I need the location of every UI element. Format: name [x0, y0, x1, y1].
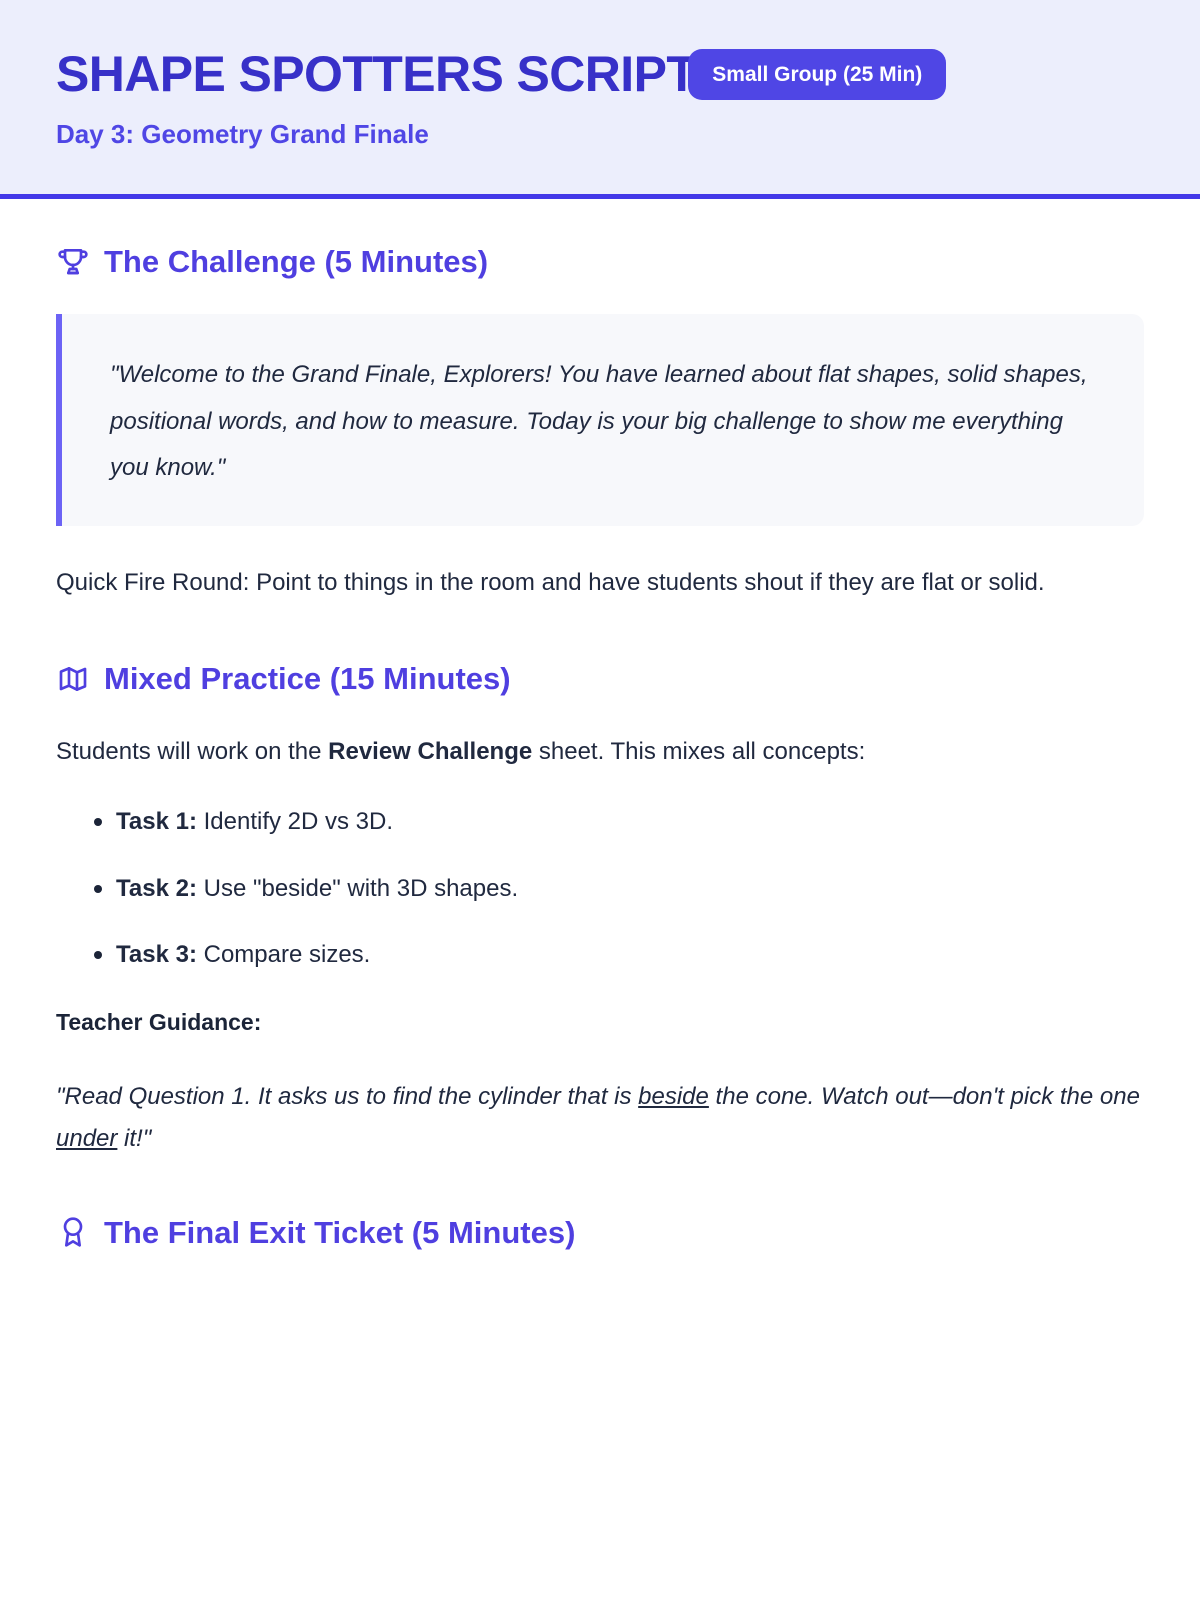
- challenge-quote-callout: "Welcome to the Grand Finale, Explorers!…: [56, 314, 1144, 526]
- intro-prefix: Students will work on the: [56, 738, 328, 765]
- task-label: Task 2:: [116, 875, 197, 902]
- teacher-guidance-label: Teacher Guidance:: [56, 1009, 1144, 1036]
- intro-suffix: sheet. This mixes all concepts:: [532, 738, 865, 765]
- task-label: Task 3:: [116, 941, 197, 968]
- group-duration-badge: Small Group (25 Min): [688, 49, 946, 100]
- list-item: Task 1: Identify 2D vs 3D.: [94, 803, 1144, 841]
- guidance-part-3: it!": [117, 1125, 151, 1152]
- map-icon: [56, 662, 90, 696]
- mixed-practice-intro: Students will work on the Review Challen…: [56, 731, 1144, 773]
- section-heading-challenge: The Challenge (5 Minutes): [56, 243, 1144, 280]
- document-body: The Challenge (5 Minutes) "Welcome to th…: [0, 199, 1200, 1251]
- list-item: Task 3: Compare sizes.: [94, 936, 1144, 974]
- teacher-guidance-quote: "Read Question 1. It asks us to find the…: [56, 1076, 1144, 1160]
- trophy-icon: [56, 244, 90, 278]
- guidance-part-2: the cone. Watch out—don't pick the one: [709, 1083, 1140, 1110]
- page-subtitle: Day 3: Geometry Grand Finale: [56, 119, 1144, 150]
- section-heading-exit-ticket: The Final Exit Ticket (5 Minutes): [56, 1214, 1144, 1251]
- document-header: SHAPE SPOTTERS SCRIPT Small Group (25 Mi…: [0, 0, 1200, 199]
- task-list: Task 1: Identify 2D vs 3D. Task 2: Use "…: [56, 803, 1144, 974]
- guidance-underline-under: under: [56, 1125, 117, 1152]
- section-heading-label: The Final Exit Ticket (5 Minutes): [104, 1214, 575, 1251]
- guidance-part-1: "Read Question 1. It asks us to find the…: [56, 1083, 638, 1110]
- task-text: Identify 2D vs 3D.: [197, 808, 393, 835]
- list-item: Task 2: Use "beside" with 3D shapes.: [94, 870, 1144, 908]
- guidance-underline-beside: beside: [638, 1083, 709, 1110]
- section-heading-label: Mixed Practice (15 Minutes): [104, 660, 511, 697]
- award-icon: [56, 1215, 90, 1249]
- section-heading-mixed-practice: Mixed Practice (15 Minutes): [56, 660, 1144, 697]
- task-text: Use "beside" with 3D shapes.: [197, 875, 518, 902]
- page-title: SHAPE SPOTTERS SCRIPT: [56, 48, 696, 101]
- challenge-quote-text: "Welcome to the Grand Finale, Explorers!…: [110, 352, 1100, 492]
- title-row: SHAPE SPOTTERS SCRIPT Small Group (25 Mi…: [56, 48, 1144, 101]
- section-heading-label: The Challenge (5 Minutes): [104, 243, 488, 280]
- task-text: Compare sizes.: [197, 941, 370, 968]
- task-label: Task 1:: [116, 808, 197, 835]
- intro-bold-term: Review Challenge: [328, 738, 532, 765]
- quick-fire-round-paragraph: Quick Fire Round: Point to things in the…: [56, 562, 1144, 604]
